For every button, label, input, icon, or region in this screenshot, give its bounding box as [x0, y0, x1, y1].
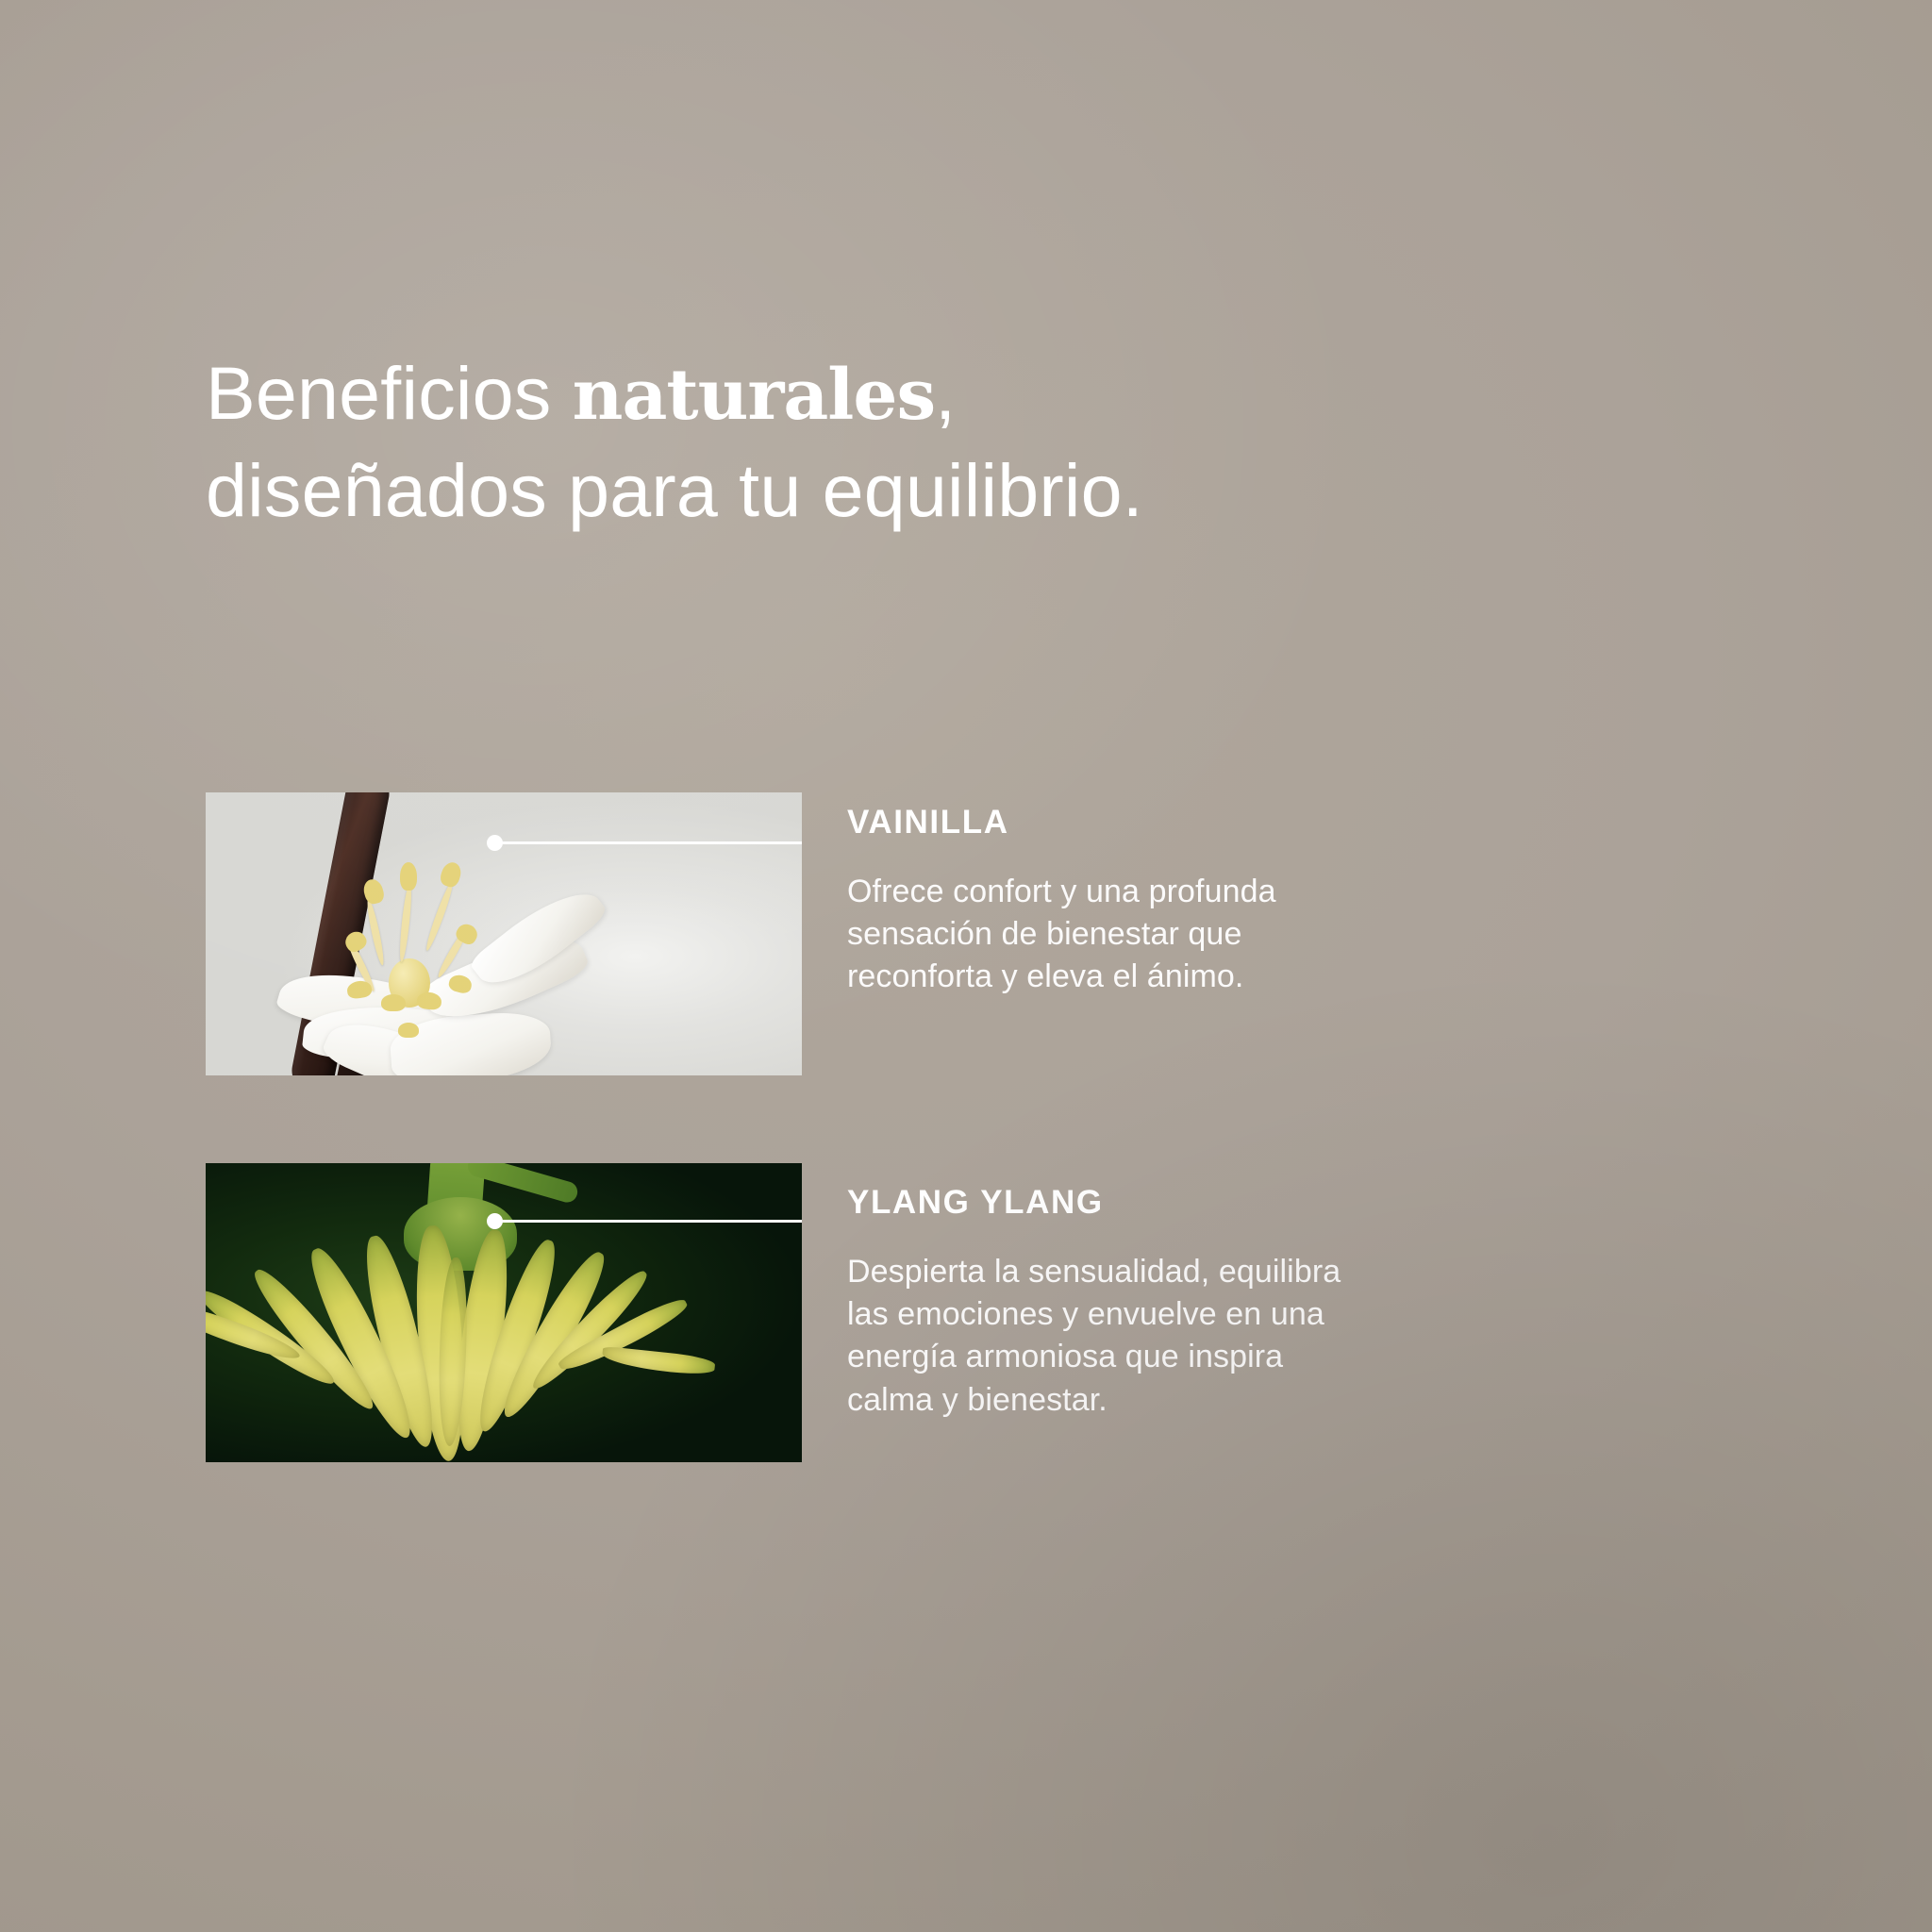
page-title: Beneficios naturales, diseñados para tu … — [206, 345, 1432, 539]
callout-line — [501, 841, 802, 844]
title-line-1-plain: Beneficios — [206, 351, 573, 435]
title-line-1-comma: , — [935, 351, 956, 435]
vanilla-flower-image — [206, 792, 802, 1075]
benefit-description: Ofrece confort y una profunda sensación … — [847, 871, 1507, 999]
benefit-description-line: las emociones y envuelve en una — [847, 1293, 1507, 1336]
benefit-description: Despierta la sensualidad, equilibra las … — [847, 1251, 1507, 1422]
title-line-2: diseñados para tu equilibrio. — [206, 442, 1432, 540]
benefit-description-line: sensación de bienestar que — [847, 913, 1507, 956]
anther-shape — [400, 862, 417, 891]
anther-shape — [438, 860, 463, 890]
benefit-description-line: Despierta la sensualidad, equilibra — [847, 1251, 1507, 1293]
benefit-title: VAINILLA — [847, 806, 1507, 839]
stamen-shape — [424, 880, 456, 952]
anther-shape — [381, 994, 406, 1011]
title-emphasis-naturales: naturales — [573, 355, 936, 436]
anther-shape — [398, 1023, 419, 1038]
ylang-ylang-flower-image — [206, 1163, 802, 1462]
benefit-description-line: reconforta y eleva el ánimo. — [847, 956, 1507, 998]
benefit-description-line: energía armoniosa que inspira — [847, 1336, 1507, 1378]
stamen-shape — [365, 898, 387, 966]
benefit-text-block: YLANG YLANG Despierta la sensualidad, eq… — [847, 1186, 1507, 1422]
petal-curl-shape — [601, 1346, 715, 1376]
callout-connector — [487, 834, 802, 851]
stamen-shape — [398, 883, 414, 962]
benefit-title: YLANG YLANG — [847, 1186, 1507, 1219]
callout-connector — [487, 1212, 802, 1229]
poster-canvas: Beneficios naturales, diseñados para tu … — [0, 0, 1932, 1932]
title-line-1: Beneficios naturales, — [206, 345, 1432, 442]
benefit-description-line: Ofrece confort y una profunda — [847, 871, 1507, 913]
callout-line — [501, 1220, 802, 1223]
benefit-text-block: VAINILLA Ofrece confort y una profunda s… — [847, 806, 1507, 999]
benefit-description-line: calma y bienestar. — [847, 1379, 1507, 1422]
